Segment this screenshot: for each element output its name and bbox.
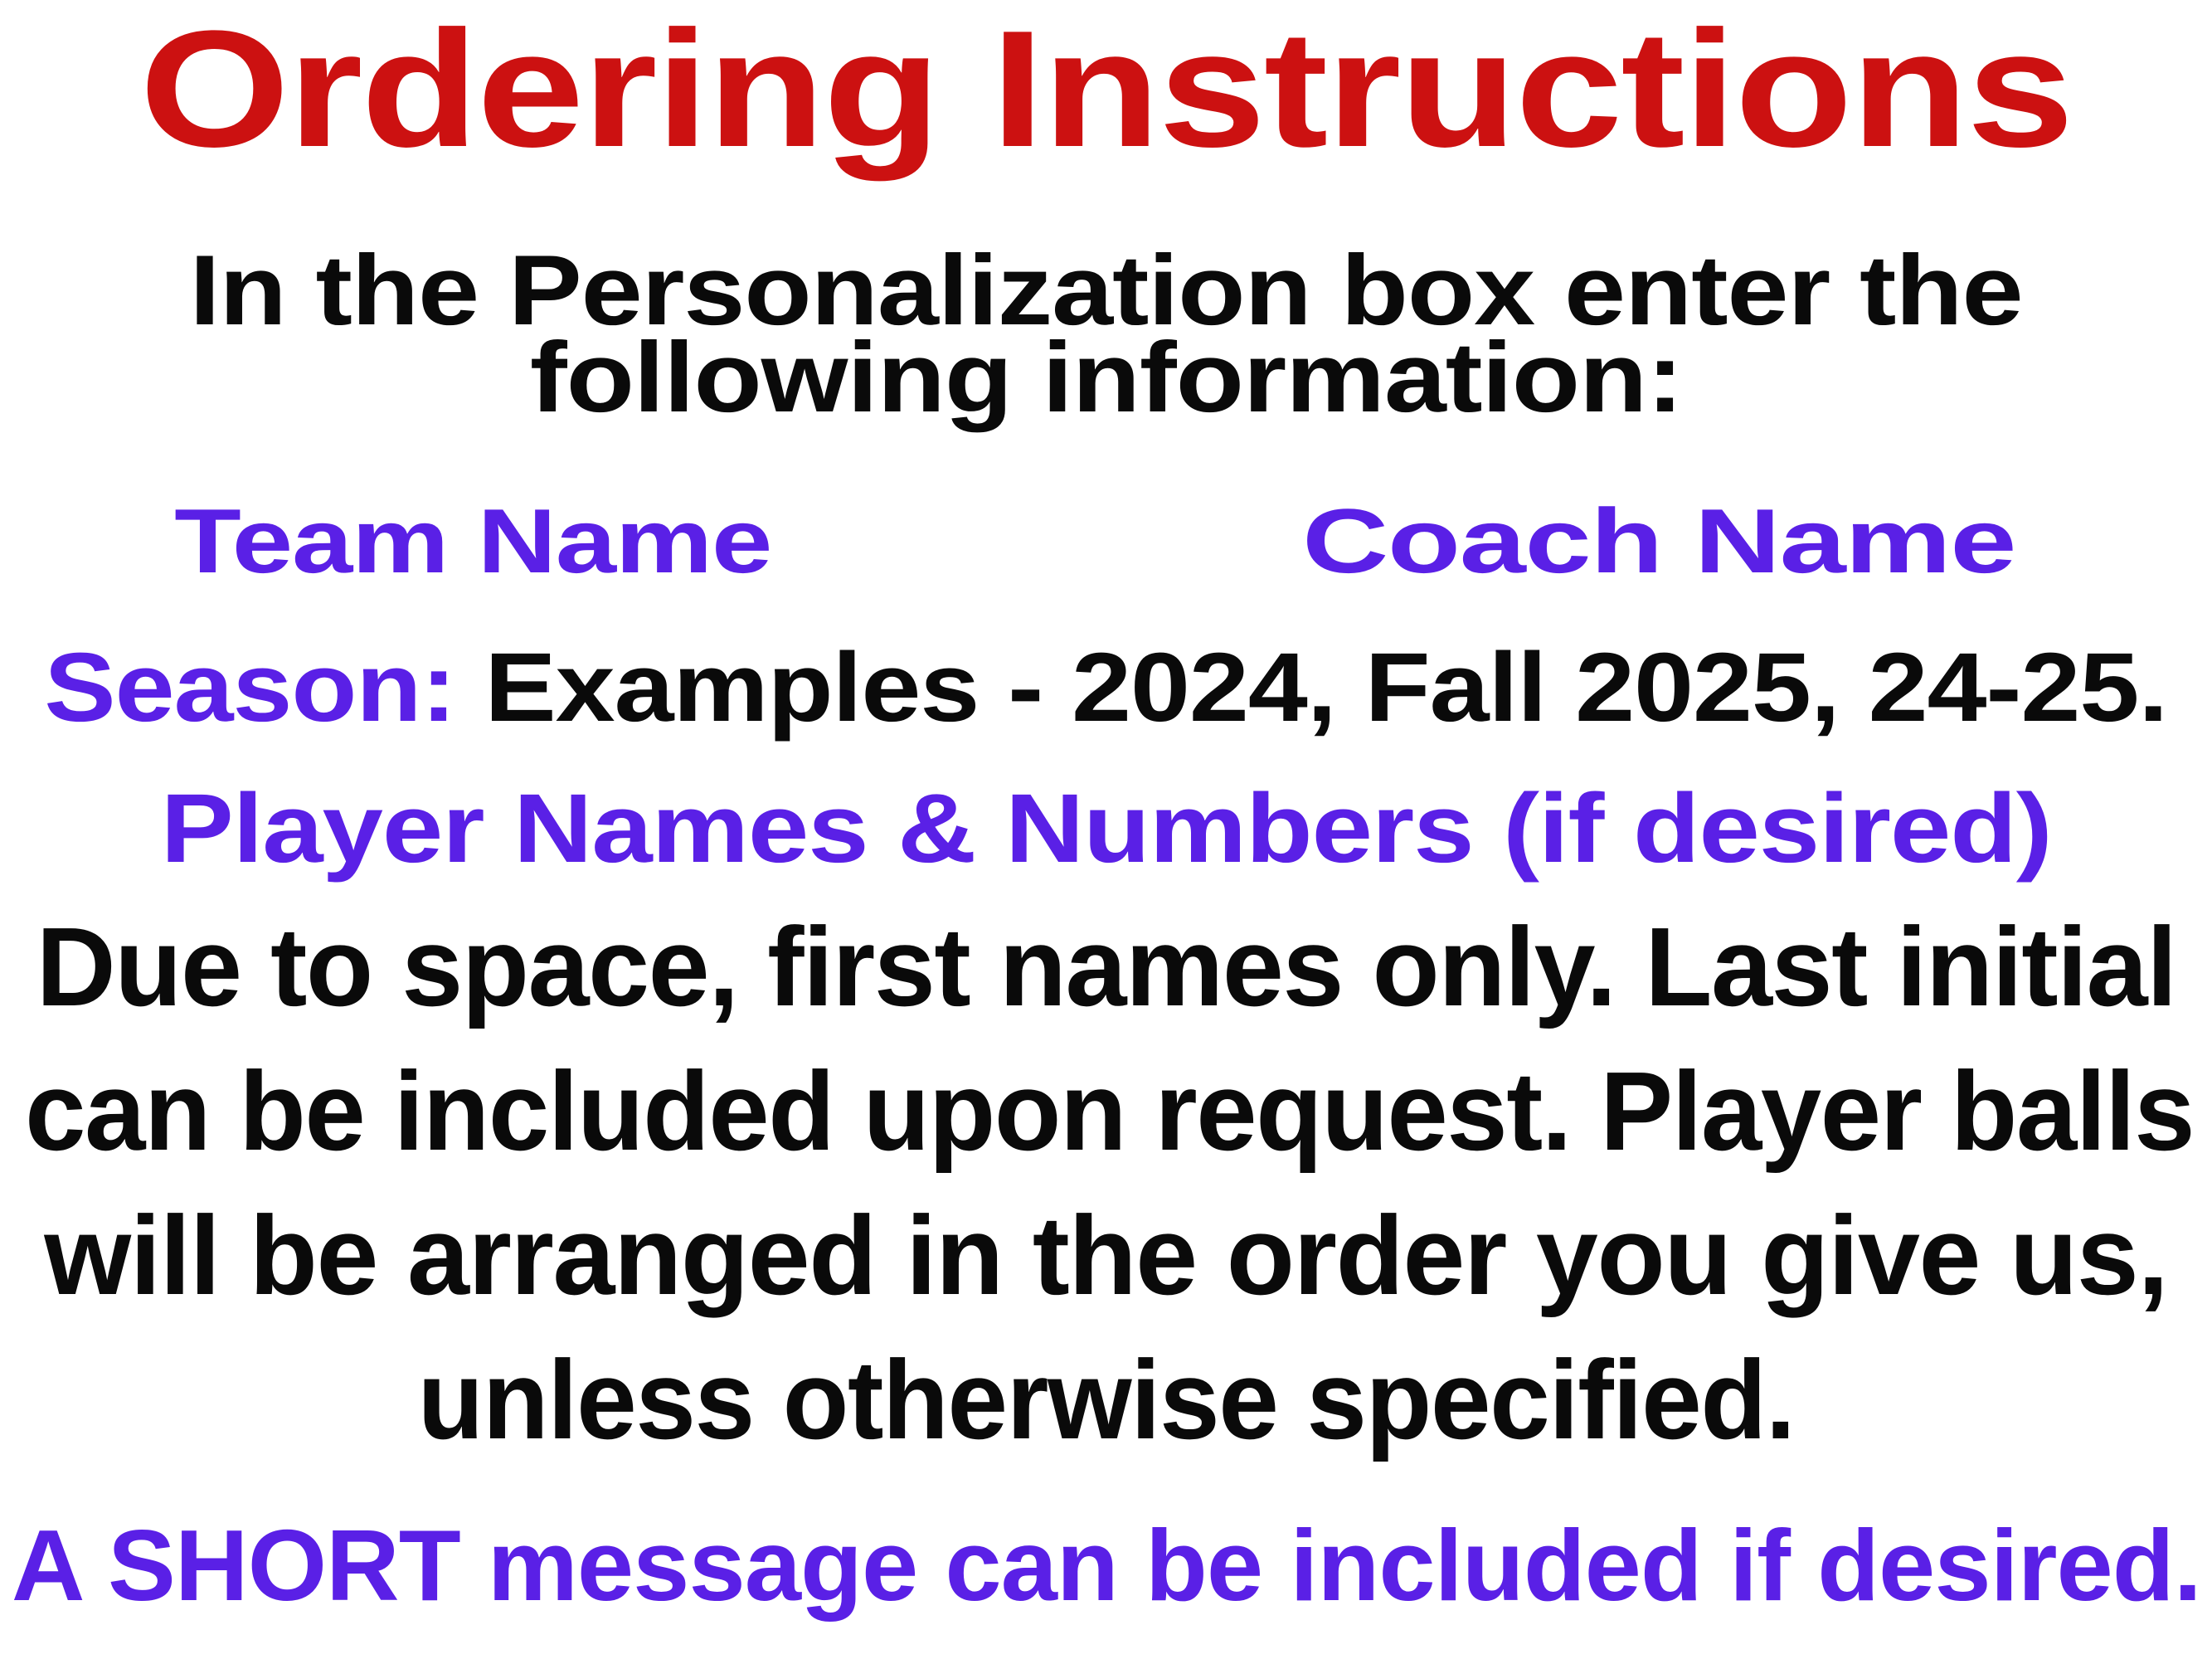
subtitle-line-2-text: following information: bbox=[529, 328, 1682, 427]
player-names-label-text: Player Names & Numbers (if desired) bbox=[161, 780, 2052, 878]
player-names-line: Player Names & Numbers (if desired) bbox=[0, 780, 2212, 879]
body-line-4: unless otherwise specified. bbox=[0, 1344, 2212, 1477]
season-examples: Examples - 2024, Fall 2025, 24-25. bbox=[485, 633, 2168, 742]
season-spacer bbox=[456, 633, 485, 742]
body-line-4-text: unless otherwise specified. bbox=[417, 1344, 1794, 1456]
team-name-label-text: Team Name bbox=[174, 496, 771, 587]
body-line-1-text: Due to space, first names only. Last ini… bbox=[36, 911, 2176, 1023]
body-line-1: Due to space, first names only. Last ini… bbox=[0, 911, 2212, 1044]
coach-name-label: Coach Name bbox=[1244, 496, 2073, 587]
season-line-inner: Season: Examples - 2024, Fall 2025, 24-2… bbox=[45, 639, 2168, 737]
page-title: Ordering Instructions bbox=[0, 7, 2212, 173]
footer-note-text: A SHORT message can be included if desir… bbox=[12, 1515, 2201, 1616]
body-line-3: will be arranged in the order you give u… bbox=[0, 1199, 2212, 1332]
page-title-text: Ordering Instructions bbox=[139, 7, 2072, 173]
subtitle-line-1: In the Personalization box enter the bbox=[0, 241, 2212, 332]
body-line-3-text: will be arranged in the order you give u… bbox=[44, 1199, 2167, 1311]
body-line-2-text: can be included upon request. Player bal… bbox=[25, 1055, 2194, 1167]
team-name-label: Team Name bbox=[100, 496, 846, 587]
subtitle-line-2: following information: bbox=[0, 328, 2212, 419]
coach-name-label-text: Coach Name bbox=[1302, 496, 2015, 587]
name-fields-row: Team Name Coach Name bbox=[0, 496, 2212, 596]
body-line-2: can be included upon request. Player bal… bbox=[0, 1055, 2212, 1188]
ordering-instructions-poster: Ordering Instructions In the Personaliza… bbox=[0, 0, 2212, 1659]
season-line: Season: Examples - 2024, Fall 2025, 24-2… bbox=[0, 639, 2212, 738]
footer-note: A SHORT message can be included if desir… bbox=[0, 1515, 2212, 1623]
season-label: Season: bbox=[45, 633, 456, 742]
